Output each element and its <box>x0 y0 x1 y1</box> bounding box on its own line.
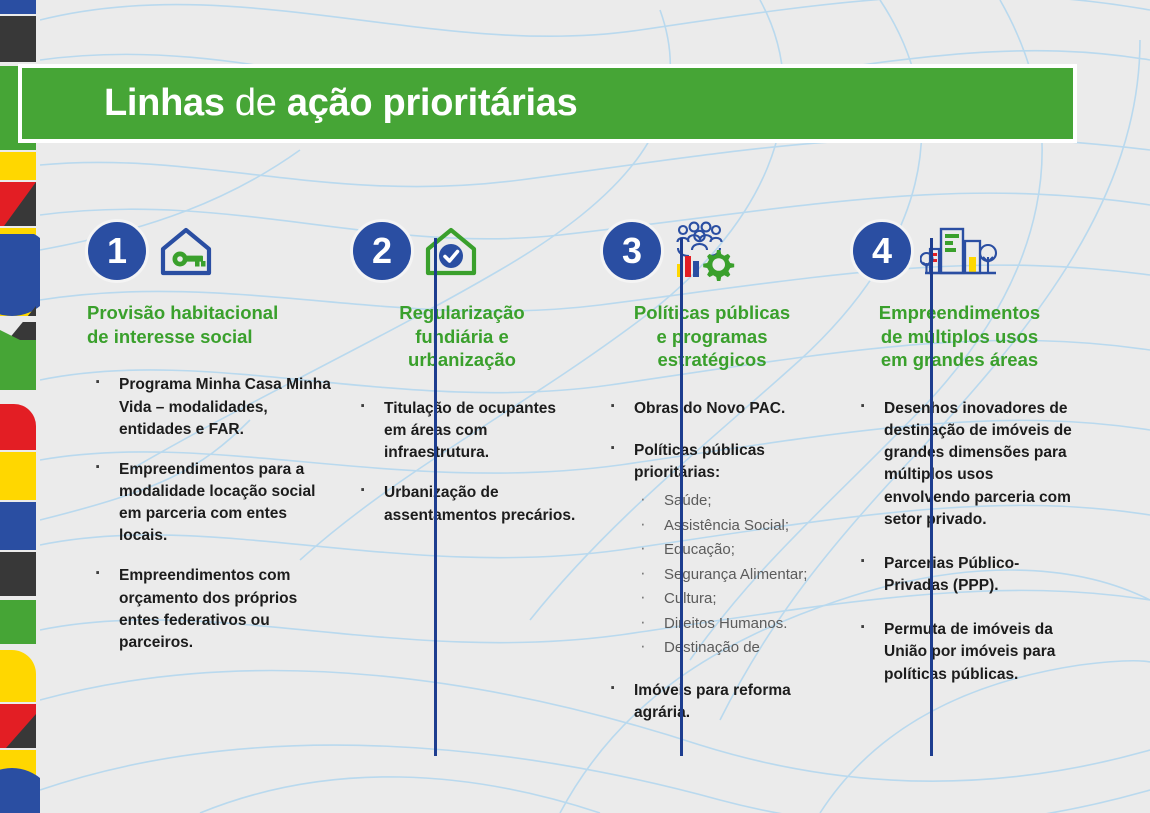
column-3-number-badge: 3 <box>600 219 664 283</box>
column-3: 3 <box>600 215 850 744</box>
column-4-heading: Empreendimentos de múltiplos usos em gra… <box>850 301 1077 372</box>
column-2-heading: Regularização fundiária e urbanização <box>350 301 582 372</box>
column-4-icon-row: 4 <box>850 215 1077 287</box>
column-2-number: 2 <box>372 233 392 269</box>
column-4-heading-line-3: em grandes áreas <box>881 349 1038 370</box>
column-3-bullet-list: Obras do Novo PAC. Políticas públicas pr… <box>600 398 832 724</box>
list-item: Desenhos inovadores de destinação de imó… <box>850 398 1077 531</box>
list-item: Urbanização de assentamentos precários. <box>350 482 582 526</box>
list-item: Destinação de <box>634 637 832 660</box>
column-1-icon-row: 1 <box>85 215 332 287</box>
column-1-heading-line-2: de interesse social <box>87 326 253 347</box>
column-3-number: 3 <box>622 233 642 269</box>
list-item: Políticas públicas prioritárias: Saúde; … <box>600 440 832 660</box>
priority-columns: 1 Provisão habi <box>85 215 1095 795</box>
column-3-heading: Políticas públicas e programas estratégi… <box>600 301 832 372</box>
list-item: Educação; <box>634 539 832 562</box>
column-4-heading-line-1: Empreendimentos <box>879 302 1040 323</box>
slide: Linhas de ação prioritárias 1 <box>0 0 1150 813</box>
list-item: Saúde; <box>634 490 832 513</box>
list-item: Titulação de ocupantes em áreas com infr… <box>350 398 582 464</box>
column-4: 4 <box>850 215 1095 708</box>
column-3-icon-row: 3 <box>600 215 832 287</box>
list-item: Parcerias Público-Privadas (PPP). <box>850 553 1077 597</box>
column-divider-1 <box>434 238 437 756</box>
column-1-number-badge: 1 <box>85 219 149 283</box>
page-title: Linhas de ação prioritárias <box>104 82 577 125</box>
column-2-bullet-list: Titulação de ocupantes em áreas com infr… <box>350 398 582 527</box>
column-3-heading-line-3: estratégicos <box>658 349 767 370</box>
list-item: Direitos Humanos. <box>634 613 832 636</box>
column-2-icon-row: 2 <box>350 215 582 287</box>
column-divider-3 <box>930 238 933 756</box>
title-part-light: de <box>225 82 287 124</box>
list-item: Segurança Alimentar; <box>634 564 832 587</box>
column-2: 2 Regularização fundiária e urbanização … <box>350 215 600 545</box>
column-4-bullet-list: Desenhos inovadores de destinação de imó… <box>850 398 1077 686</box>
list-item-label: Políticas públicas prioritárias: <box>634 442 765 481</box>
column-1-number: 1 <box>107 233 127 269</box>
slide-title-bar: Linhas de ação prioritárias <box>18 64 1077 143</box>
list-item: Permuta de imóveis da União por imóveis … <box>850 619 1077 685</box>
list-item: Empreendimentos com orçamento dos própri… <box>85 565 332 654</box>
column-divider-2 <box>680 238 683 756</box>
list-item: Assistência Social; <box>634 515 832 538</box>
list-item: Programa Minha Casa Minha Vida – modalid… <box>85 374 332 440</box>
title-part-bold-1: Linhas <box>104 82 225 124</box>
column-4-number-badge: 4 <box>850 219 914 283</box>
list-item: Empreendimentos para a modalidade locaçã… <box>85 459 332 548</box>
house-check-icon <box>420 223 482 279</box>
column-3-heading-line-2: e programas <box>656 326 767 347</box>
column-1-bullet-list: Programa Minha Casa Minha Vida – modalid… <box>85 374 332 654</box>
column-4-heading-line-2: de múltiplos usos <box>881 326 1038 347</box>
column-1-heading-line-1: Provisão habitacional <box>87 302 278 323</box>
column-2-heading-line-3: urbanização <box>408 349 516 370</box>
column-2-heading-line-1: Regularização <box>399 302 524 323</box>
column-2-number-badge: 2 <box>350 219 414 283</box>
title-part-bold-2: ação prioritárias <box>287 82 578 124</box>
column-1: 1 Provisão habi <box>85 215 350 672</box>
list-item: Cultura; <box>634 588 832 611</box>
house-key-icon <box>155 223 217 279</box>
list-item: Obras do Novo PAC. <box>600 398 832 420</box>
column-1-heading: Provisão habitacional de interesse socia… <box>85 301 332 348</box>
column-4-number: 4 <box>872 233 892 269</box>
column-3-heading-line-1: Políticas públicas <box>634 302 790 323</box>
column-2-heading-line-2: fundiária e <box>415 326 509 347</box>
list-item: Imóveis para reforma agrária. <box>600 680 832 724</box>
column-3-subbullet-list: Saúde; Assistência Social; Educação; Seg… <box>634 490 832 660</box>
